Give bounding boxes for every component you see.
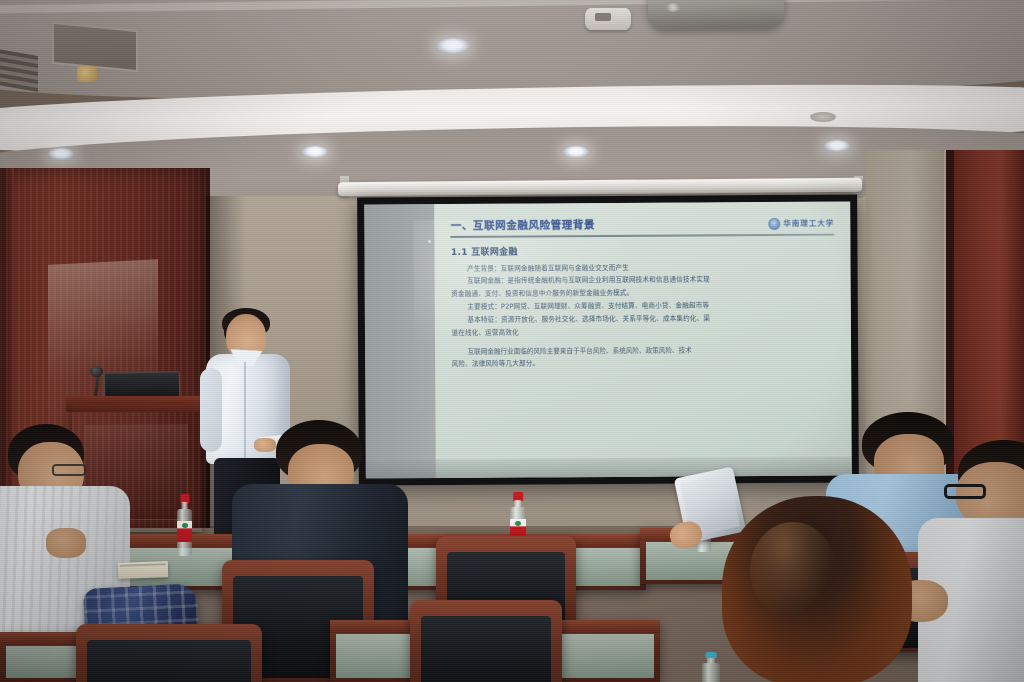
smoke-detector-icon [585, 8, 631, 30]
chair-seatback-pad [87, 640, 251, 682]
downlight-upper-1 [436, 38, 470, 54]
downlight-lower-1 [48, 148, 74, 160]
presentation-slide: 一、互联网金融风险管理背景 华南理工大学 1.1 互联网金融 产生背景：互联网金… [435, 202, 852, 479]
open-notebook [118, 561, 169, 579]
water-bottle[interactable] [177, 494, 192, 556]
slide-section-heading: 1.1 互联网金融 [451, 242, 835, 257]
ceiling-sensor-icon [77, 66, 97, 82]
presenter-left-arm [200, 368, 222, 452]
lecture-room-photo: 一、互联网金融风险管理背景 华南理工大学 1.1 互联网金融 产生背景：互联网金… [0, 0, 1024, 682]
university-logo: 华南理工大学 [768, 217, 834, 229]
glasses-icon [52, 464, 86, 476]
chair[interactable] [76, 624, 262, 682]
screen-surface: 一、互联网金融风险管理背景 华南理工大学 1.1 互联网金融 产生背景：互联网金… [364, 202, 852, 479]
bottle-body [702, 663, 720, 682]
downlight-lower-4 [824, 140, 850, 152]
ceiling-projector [648, 0, 785, 29]
water-bottle[interactable] [702, 652, 720, 682]
chair[interactable] [410, 600, 562, 682]
bottle-label [177, 521, 192, 542]
attendee-far-right [930, 440, 1024, 682]
ceiling-fixture [810, 112, 836, 122]
downlight-lower-2 [302, 146, 328, 158]
chair-seatback-pad [421, 616, 551, 682]
slide-title-divider [451, 234, 835, 238]
university-logo-text: 华南理工大学 [783, 218, 834, 229]
projector-lens-icon [666, 3, 680, 12]
slide-header: 一、互联网金融风险管理背景 华南理工大学 [451, 216, 835, 233]
hair-highlight [750, 522, 836, 618]
screen-lower-shade [366, 456, 852, 478]
microphone-head-icon [90, 366, 103, 377]
slide-line: 道在线化、运营高效化 [451, 324, 835, 339]
glasses-icon [944, 484, 986, 499]
air-vent-slots [0, 48, 38, 92]
attendee-arm [46, 528, 86, 558]
projection-screen: 一、互联网金融风险管理背景 华南理工大学 1.1 互联网金融 产生背景：互联网金… [357, 194, 859, 485]
air-vent [52, 22, 138, 72]
university-emblem-icon [768, 217, 780, 229]
slide-body: 产生背景：互联网金融随着互联网与金融业交叉而产生 互联网金融：是指传统金融机构与… [451, 260, 835, 371]
slide-paragraph-cont: 风险、法律风险等几大部分。 [452, 356, 836, 371]
downlight-lower-3 [563, 146, 589, 158]
attendee-foreground-woman [722, 496, 912, 682]
slide-title: 一、互联网金融风险管理背景 [451, 217, 595, 233]
screen-speck [428, 240, 431, 243]
